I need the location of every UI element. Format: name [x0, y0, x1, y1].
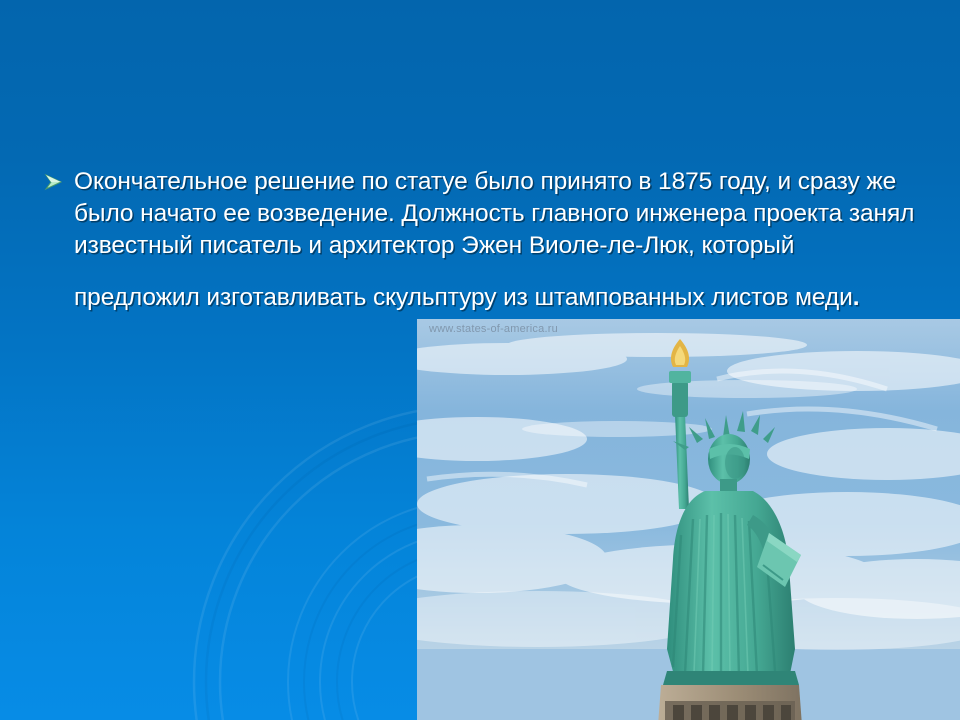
- paragraph-2-body: предложил изготавливать скульптуру из шт…: [74, 284, 853, 311]
- paragraph-2-period: .: [853, 284, 860, 311]
- arrowhead-bullet-icon: [44, 166, 74, 191]
- photo-watermark: www.states-of-america.ru: [429, 323, 558, 335]
- paragraph-1: Окончательное решение по статуе было при…: [74, 166, 924, 262]
- paragraph-spacer: [74, 262, 924, 282]
- ripple-decoration: [0, 330, 470, 720]
- statue-of-liberty-photo: www.states-of-america.ru: [417, 319, 960, 720]
- paragraph-2: предложил изготавливать скульптуру из шт…: [74, 282, 924, 314]
- bullet-content: Окончательное решение по статуе было при…: [44, 166, 924, 313]
- slide: Окончательное решение по статуе было при…: [0, 0, 960, 720]
- bullet-list-item: Окончательное решение по статуе было при…: [44, 166, 924, 313]
- bullet-paragraphs: Окончательное решение по статуе было при…: [74, 166, 924, 313]
